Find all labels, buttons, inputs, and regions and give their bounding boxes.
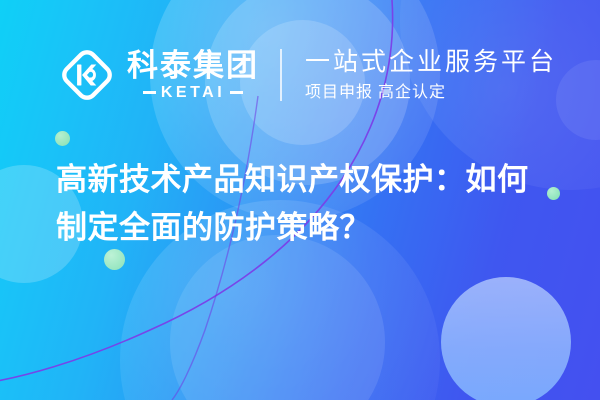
- pale-circle-lower: [170, 235, 385, 400]
- tagline-secondary: 项目申报 高企认定: [305, 81, 557, 104]
- bright-circle-bottom-right: [441, 277, 571, 400]
- headline: 高新技术产品知识产权保护：如何 制定全面的防护策略？: [56, 156, 568, 252]
- tagline-primary: 一站式企业服务平台: [305, 47, 557, 78]
- headline-line-1: 高新技术产品知识产权保护：如何: [56, 156, 568, 204]
- ketai-diamond-kp-logo-icon: [56, 44, 118, 106]
- headline-line-2: 制定全面的防护策略？: [56, 204, 568, 252]
- brand-name-en-row: KETAI: [127, 84, 259, 101]
- brand-name-en: KETAI: [161, 84, 225, 101]
- brand-wordmark: 科泰集团 KETAI: [127, 49, 259, 101]
- wordmark-dash-right: [230, 91, 243, 94]
- tagline-block: 一站式企业服务平台 项目申报 高企认定: [305, 47, 557, 104]
- green-dot-upper-left: [55, 131, 70, 146]
- brand-logo[interactable]: 科泰集团 KETAI: [56, 44, 259, 106]
- header-divider: [280, 49, 282, 101]
- wordmark-dash-left: [143, 91, 156, 94]
- banner-header: 科泰集团 KETAI 一站式企业服务平台 项目申报 高企认定: [0, 36, 600, 114]
- brand-name-cn: 科泰集团: [127, 49, 259, 83]
- green-dot-mid-left: [104, 249, 125, 270]
- promo-banner: 科泰集团 KETAI 一站式企业服务平台 项目申报 高企认定 高新技术产品知识产…: [0, 0, 600, 400]
